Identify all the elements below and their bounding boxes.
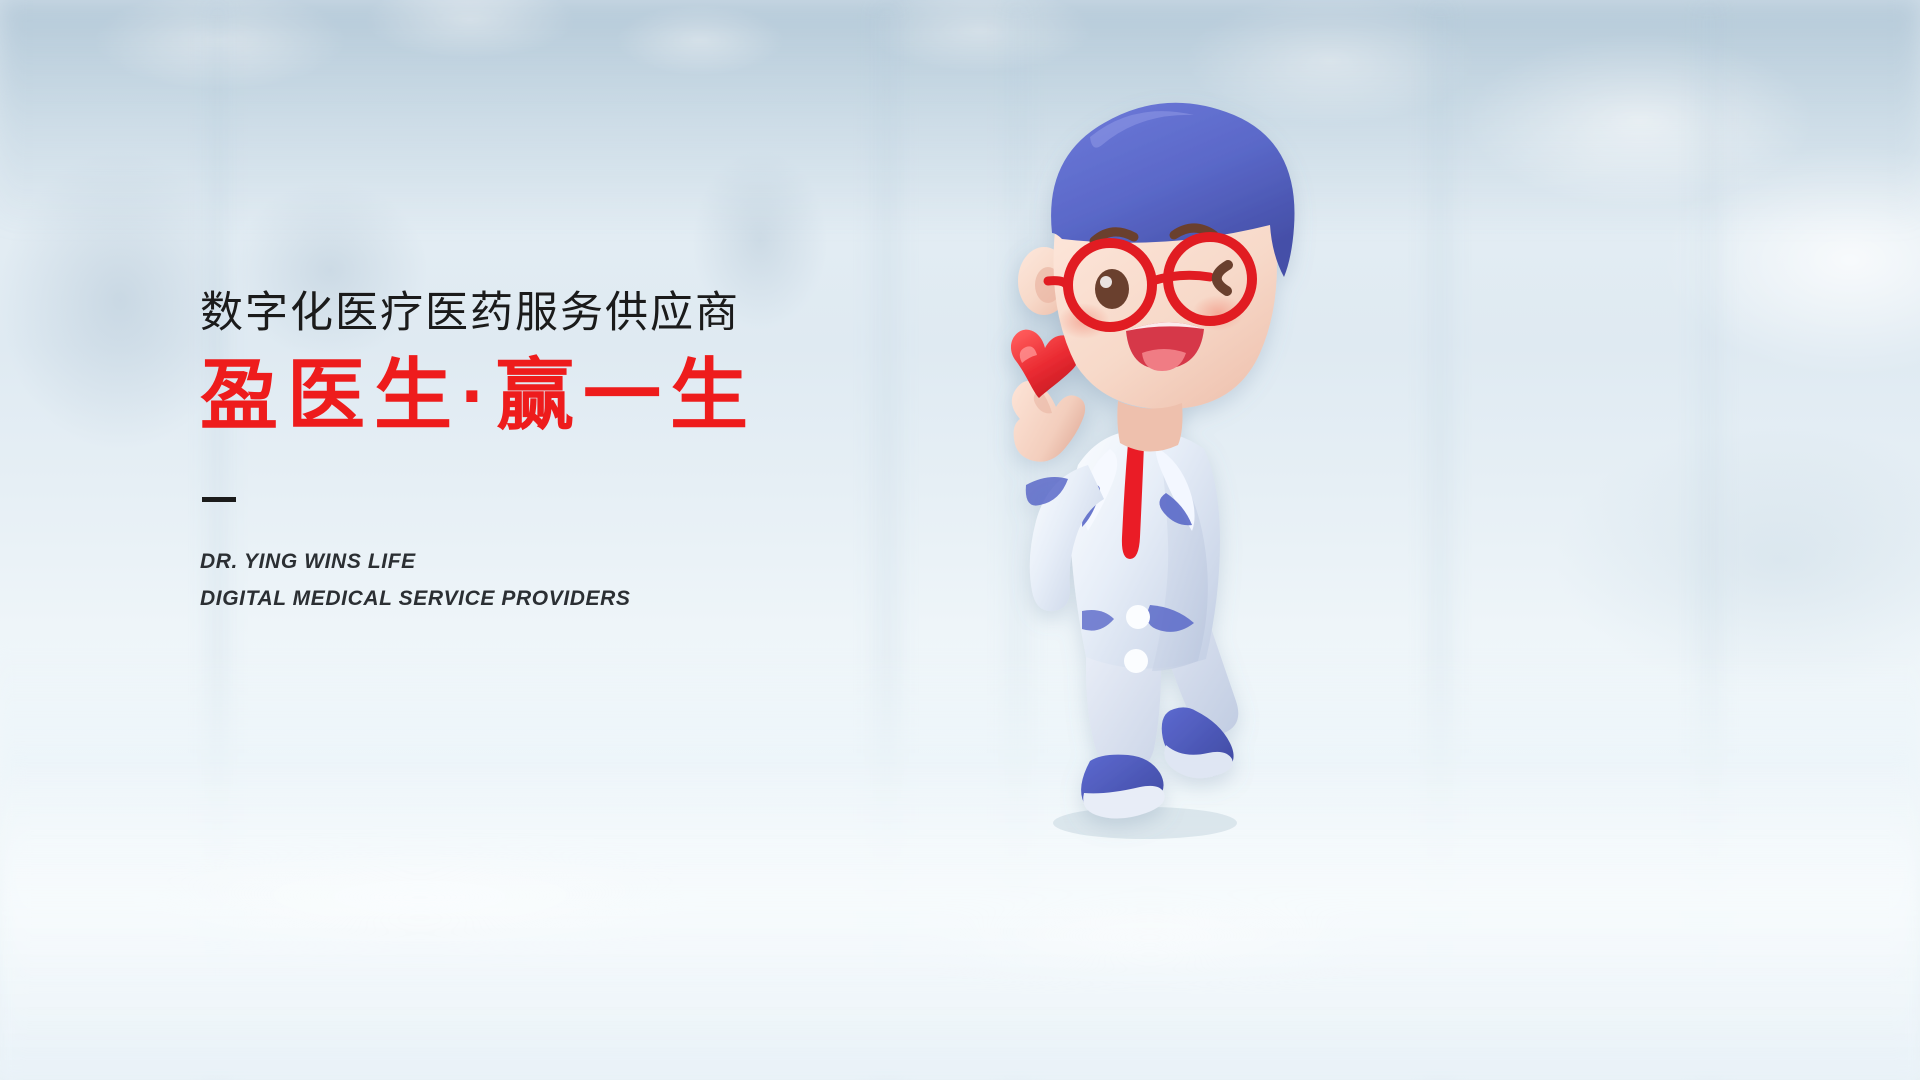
subtitle-english-line-1: DR. YING WINS LIFE — [200, 544, 1020, 581]
subtitle-english-line-2: DIGITAL MEDICAL SERVICE PROVIDERS — [200, 581, 1020, 618]
mascot-coat-button-top — [1126, 605, 1150, 629]
headline-chinese-sub: 数字化医疗医药服务供应商 — [200, 290, 1020, 337]
mascot-hand — [1012, 381, 1085, 462]
mascot-neck — [1117, 401, 1182, 452]
subtitle-english: DR. YING WINS LIFE DIGITAL MEDICAL SERVI… — [200, 544, 1020, 618]
mascot-coat-button-bottom — [1124, 649, 1148, 673]
headline-chinese-main: 盈医生·赢一生 — [200, 355, 1020, 437]
mascot-eye-highlight — [1100, 276, 1112, 288]
hero-copy: 数字化医疗医药服务供应商 盈医生·赢一生 DR. YING WINS LIFE … — [200, 290, 1020, 618]
doctor-mascot-illustration — [960, 45, 1380, 845]
hero-banner: 数字化医疗医药服务供应商 盈医生·赢一生 DR. YING WINS LIFE … — [0, 0, 1920, 1080]
divider-rule — [202, 497, 236, 502]
mascot-eye-open — [1095, 269, 1129, 309]
